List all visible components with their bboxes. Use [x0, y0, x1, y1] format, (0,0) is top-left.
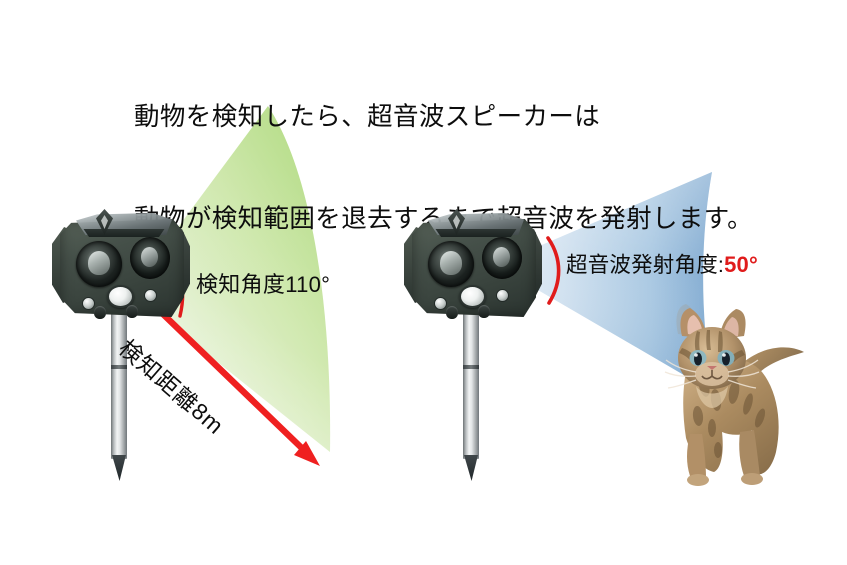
stake-tip [464, 455, 478, 481]
stake-tip [112, 455, 126, 481]
cat-paw-right [741, 473, 763, 485]
speaker-horn-left [428, 241, 474, 287]
stake-joint-band [463, 365, 479, 369]
device-body [404, 209, 544, 325]
cat-eye-glint-right [722, 353, 726, 357]
cat-eye-glint-left [694, 353, 698, 357]
emission-angle-value: 50° [724, 252, 758, 277]
emission-angle-label-prefix: 超音波発射角度: [566, 253, 724, 277]
led-indicator-left [82, 297, 95, 310]
stake-rod [463, 313, 479, 459]
stake-rod [111, 313, 127, 459]
led-indicator-right [144, 289, 157, 302]
control-knob-right[interactable] [478, 305, 490, 318]
ground-stake [110, 313, 128, 481]
device-body [52, 209, 192, 325]
led-indicator-left [434, 297, 447, 310]
emission-angle-label: 超音波発射角度:50° [566, 248, 758, 279]
infographic-canvas: 動物を検知したら、超音波スピーカーは 動物が検知範囲を退去するまで超音波を発射し… [0, 0, 847, 565]
ground-stake [462, 313, 480, 481]
solar-panel-edge [430, 229, 522, 237]
control-knob-left[interactable] [94, 306, 106, 319]
speaker-horn-right [130, 237, 170, 279]
speaker-horn-right [482, 237, 522, 279]
detection-angle-label: 検知角度110° [196, 267, 330, 299]
led-indicator-right [496, 289, 509, 302]
cat-photo [652, 300, 818, 490]
title-line-1: 動物を検知したら、超音波スピーカーは [134, 100, 774, 134]
speaker-horn-left [76, 241, 122, 287]
device-right [400, 193, 560, 483]
control-knob-left[interactable] [446, 306, 458, 319]
control-knob-right[interactable] [126, 305, 138, 318]
cat-paw-left [687, 474, 709, 486]
solar-panel-edge [78, 229, 170, 237]
